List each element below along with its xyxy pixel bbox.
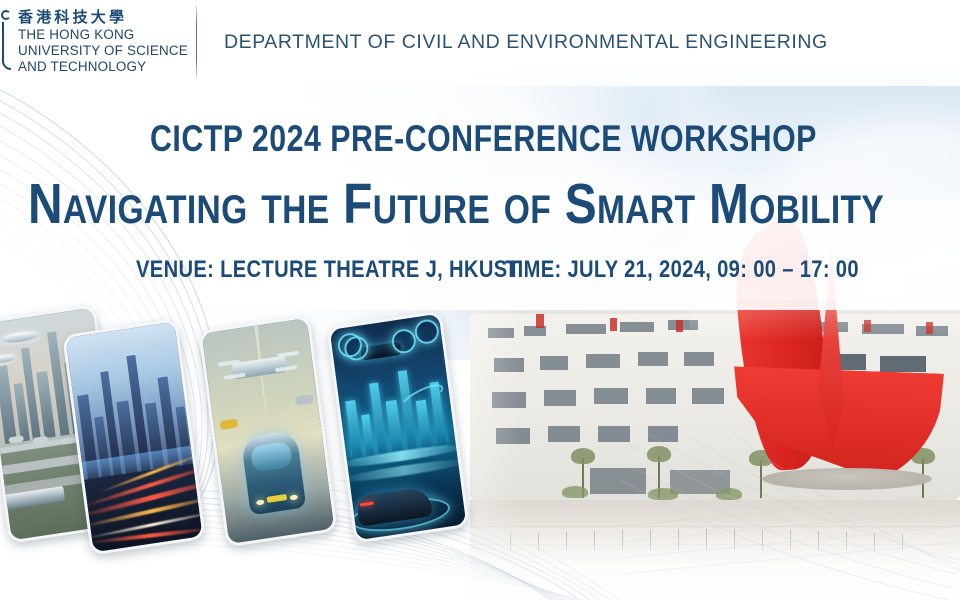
hkust-logo-mark-icon bbox=[0, 6, 14, 80]
page-title: Navigating the Future of Smart Mobility bbox=[28, 173, 884, 235]
card-autonomous-shuttle-drone[interactable] bbox=[198, 315, 337, 548]
event-kicker: CICTP 2024 PRE-CONFERENCE WORKSHOP bbox=[150, 119, 817, 159]
hkust-logo-text: 香港科技大學 THE HONG KONG UNIVERSITY OF SCIEN… bbox=[18, 6, 188, 76]
sculpture-base bbox=[762, 468, 932, 490]
department-title: DEPARTMENT OF CIVIL AND ENVIRONMENTAL EN… bbox=[224, 31, 828, 54]
event-venue: VENUE: LECTURE THEATRE J, HKUST bbox=[136, 256, 520, 284]
card-holographic-city-ev[interactable] bbox=[326, 310, 469, 543]
header-divider bbox=[196, 6, 197, 78]
poster-canvas: 香港科技大學 THE HONG KONG UNIVERSITY OF SCIEN… bbox=[0, 0, 960, 600]
logo-english-line-2: UNIVERSITY OF SCIENCE bbox=[18, 43, 188, 59]
image-card-strip bbox=[0, 300, 560, 550]
card-image bbox=[330, 314, 466, 540]
event-time: TIME: JULY 21, 2024, 09: 00 – 17: 00 bbox=[505, 256, 859, 284]
logo-chinese-name: 香港科技大學 bbox=[18, 8, 188, 27]
logo-english-line-1: THE HONG KONG bbox=[18, 27, 188, 43]
logo-english-line-3: AND TECHNOLOGY bbox=[18, 59, 188, 75]
card-image bbox=[65, 322, 202, 552]
hkust-logo[interactable]: 香港科技大學 THE HONG KONG UNIVERSITY OF SCIEN… bbox=[0, 6, 188, 80]
card-image bbox=[202, 318, 335, 544]
